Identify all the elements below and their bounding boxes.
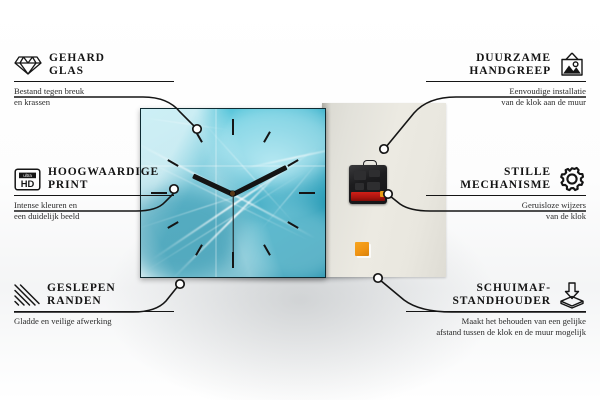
feature-desc-line2: een duidelijk beeld [14,211,174,222]
feature-schuimaf-standhouder: SCHUIMAF- STANDHOUDER Maakt het behouden… [406,282,586,338]
clock-second-hand [232,194,233,256]
feature-desc-line2: afstand tussen de klok en de muur mogeli… [406,327,586,338]
feature-rule [14,311,174,312]
feature-title-line1: STILLE [460,166,551,179]
feature-desc-line2: en krassen [14,97,174,108]
feature-title-line2: STANDHOUDER [452,295,551,308]
clock-tick-11 [195,131,203,142]
feature-title-line2: PRINT [48,179,159,192]
feature-title-line2: HANDGREEP [469,65,551,78]
feature-rule [426,81,586,82]
feature-desc-line2: van de klok [426,211,586,222]
feature-title-line1: GESLEPEN [47,282,116,295]
feature-rule [14,81,174,82]
hanging-picture-icon [558,52,586,78]
feature-rule [406,311,586,312]
feature-rule [14,195,174,196]
feature-geslepen-randen: GESLEPEN RANDEN Gladde en veilige afwerk… [14,282,174,327]
feature-title-line1: GEHARD [49,52,105,65]
clock-tick-12 [232,119,234,135]
diamond-icon [14,54,42,76]
feature-desc-line1: Maakt het behouden van een gelijke [406,316,586,327]
feature-duurzame-handgreep: DUURZAME HANDGREEP Eenvoudige installati… [426,52,586,108]
feature-title-line1: DUURZAME [469,52,551,65]
feature-title-line2: MECHANISME [460,179,551,192]
feature-title-line2: GLAS [49,65,105,78]
bevelled-edge-icon [14,284,40,306]
press-down-pad-icon [558,282,586,308]
feature-desc-line2: van de klok aan de muur [426,97,586,108]
clock-tick-3 [299,192,315,194]
clock-center-cap [230,191,235,196]
feature-desc-line1: Intense kleuren en [14,200,174,211]
feature-desc-line1: Geruisloze wijzers [426,200,586,211]
ultra-hd-icon: ultra HD [14,168,41,191]
feature-desc-line1: Gladde en veilige afwerking [14,316,174,327]
feature-title-line1: HOOGWAARDIGE [48,166,159,179]
feature-title-line2: RANDEN [47,295,116,308]
gear-icon [558,166,586,192]
infographic-canvas: GEHARD GLAS Bestand tegen breuk en krass… [0,0,600,400]
feature-stille-mechanisme: STILLE MECHANISME Geruisloze wijzers van… [426,166,586,222]
feature-rule [426,195,586,196]
battery-positive-terminal [380,191,385,197]
feature-title-line1: SCHUIMAF- [452,282,551,295]
feature-gehard-glas: GEHARD GLAS Bestand tegen breuk en krass… [14,52,174,108]
feature-hoogwaardige-print: ultra HD HOOGWAARDIGE PRINT Intense kleu… [14,166,174,222]
svg-text:HD: HD [21,178,35,189]
feature-desc-line1: Bestand tegen breuk [14,86,174,97]
feature-desc-line1: Eenvoudige installatie [426,86,586,97]
foam-standoff-pad [355,242,369,256]
